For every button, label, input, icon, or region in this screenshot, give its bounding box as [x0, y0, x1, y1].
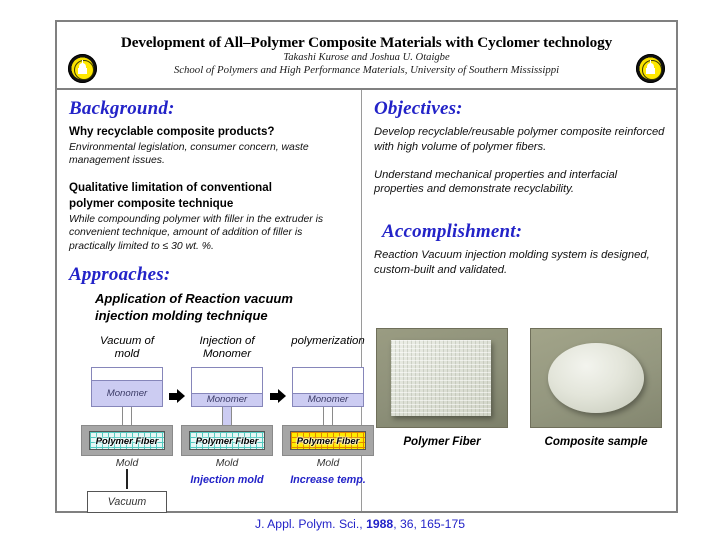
- step3-mold-label: Mold: [282, 458, 374, 469]
- step3-polymer-fiber: Polymer Fiber: [290, 431, 366, 450]
- limitation-heading-line2: polymer composite technique: [69, 197, 351, 211]
- limitation-heading-line1: Qualitative limitation of conventional: [69, 181, 351, 195]
- step2-vessel: Monomer: [191, 367, 263, 407]
- step1-polymer-fiber: Polymer Fiber: [89, 431, 165, 450]
- step1-mold-label: Mold: [81, 458, 173, 469]
- step2-connector-tube: [222, 407, 232, 425]
- step2-monomer-jar: Monomer: [191, 367, 263, 407]
- process-step-injection-of-monomer: Injection of Monomer Monomer: [181, 335, 273, 486]
- accomplishment-text: Reaction Vacuum injection molding system…: [374, 248, 668, 278]
- background-question-text: Environmental legislation, consumer conc…: [69, 141, 351, 168]
- approaches-subtitle-line2: injection molding technique: [95, 308, 351, 325]
- right-column: Objectives: Develop recyclable/reusable …: [362, 90, 676, 511]
- accomplishment-heading: Accomplishment:: [382, 221, 668, 243]
- step3-title-line1: polymerization: [282, 335, 374, 349]
- step2-monomer-label: Monomer: [207, 394, 248, 405]
- step2-title-line1: Injection of: [181, 335, 273, 349]
- university-seal-right-icon: [636, 54, 665, 83]
- composite-sample-photo: [530, 328, 662, 428]
- poster-affiliation: School of Polymers and High Performance …: [63, 64, 670, 78]
- citation-year: 1988: [366, 517, 393, 531]
- objectives-text-1: Develop recyclable/reusable polymer comp…: [374, 125, 668, 155]
- poster-body: Background: Why recyclable composite pro…: [57, 90, 676, 511]
- composite-sample-caption: Composite sample: [530, 435, 662, 448]
- photo-item-composite-sample: Composite sample: [530, 328, 662, 448]
- polymer-fiber-photo: [376, 328, 508, 428]
- step2-monomer-liquid: Monomer: [192, 393, 262, 406]
- process-step-polymerization: polymerization Monomer: [282, 335, 374, 486]
- step3-monomer-jar: Monomer: [292, 367, 364, 407]
- poster-slide: Development of All–Polymer Composite Mat…: [0, 0, 720, 540]
- step1-monomer-label: Monomer: [107, 388, 148, 399]
- step1-vacuum-label: Vacuum: [108, 496, 146, 508]
- step1-title-line2: mold: [81, 348, 173, 362]
- photo-gallery: Polymer Fiber Composite sample: [376, 328, 662, 448]
- step2-mold-label: Mold: [181, 458, 273, 469]
- step1-vacuum-line: [126, 469, 128, 489]
- step1-vessel: Monomer: [91, 367, 163, 407]
- poster-header: Development of All–Polymer Composite Mat…: [57, 22, 676, 90]
- objectives-text-2: Understand mechanical properties and int…: [374, 168, 668, 198]
- step1-title-line1: Vacuum of: [81, 335, 173, 349]
- background-question-heading: Why recyclable composite products?: [69, 125, 351, 139]
- step2-title-line2: Monomer: [181, 348, 273, 362]
- citation-footer: J. Appl. Polym. Sci., 1988, 36, 165-175: [0, 517, 720, 531]
- step1-vacuum-box: Vacuum: [87, 491, 167, 513]
- process-diagram: Vacuum of mold Monomer: [69, 335, 351, 505]
- approaches-heading: Approaches:: [69, 264, 351, 286]
- step1-mold-block: Polymer Fiber: [81, 425, 173, 456]
- step3-mold-block: Polymer Fiber: [282, 425, 374, 456]
- limitation-text: While compounding polymer with filler in…: [69, 213, 351, 253]
- poster-authors: Takashi Kurose and Joshua U. Otaigbe: [63, 51, 670, 64]
- step3-fiber-label: Polymer Fiber: [297, 435, 360, 446]
- step1-monomer-liquid: Monomer: [92, 380, 162, 406]
- left-column: Background: Why recyclable composite pro…: [57, 90, 361, 511]
- polymer-fiber-caption: Polymer Fiber: [376, 435, 508, 448]
- step1-monomer-jar: Monomer: [91, 367, 163, 407]
- university-seal-left-icon: [68, 54, 97, 83]
- poster-frame: Development of All–Polymer Composite Mat…: [55, 20, 678, 513]
- approaches-subtitle-line1: Application of Reaction vacuum: [95, 291, 351, 308]
- step3-note: Increase temp.: [282, 474, 374, 486]
- step2-polymer-fiber: Polymer Fiber: [189, 431, 265, 450]
- step2-mold-block: Polymer Fiber: [181, 425, 273, 456]
- objectives-heading: Objectives:: [374, 98, 668, 120]
- citation-journal: J. Appl. Polym. Sci.,: [255, 517, 363, 531]
- citation-rest: , 36, 165-175: [393, 517, 465, 531]
- background-heading: Background:: [69, 98, 351, 120]
- step1-connector-tube: [122, 407, 132, 425]
- step3-monomer-liquid: Monomer: [293, 393, 363, 406]
- step2-note: Injection mold: [181, 474, 273, 486]
- step1-fiber-label: Polymer Fiber: [96, 435, 159, 446]
- process-step-vacuum-of-mold: Vacuum of mold Monomer: [81, 335, 173, 513]
- step3-vessel: Monomer: [292, 367, 364, 407]
- poster-title: Development of All–Polymer Composite Mat…: [63, 35, 670, 51]
- step3-monomer-label: Monomer: [308, 394, 349, 405]
- photo-item-polymer-fiber: Polymer Fiber: [376, 328, 508, 448]
- step3-connector-tube: [323, 407, 333, 425]
- step2-fiber-label: Polymer Fiber: [196, 435, 259, 446]
